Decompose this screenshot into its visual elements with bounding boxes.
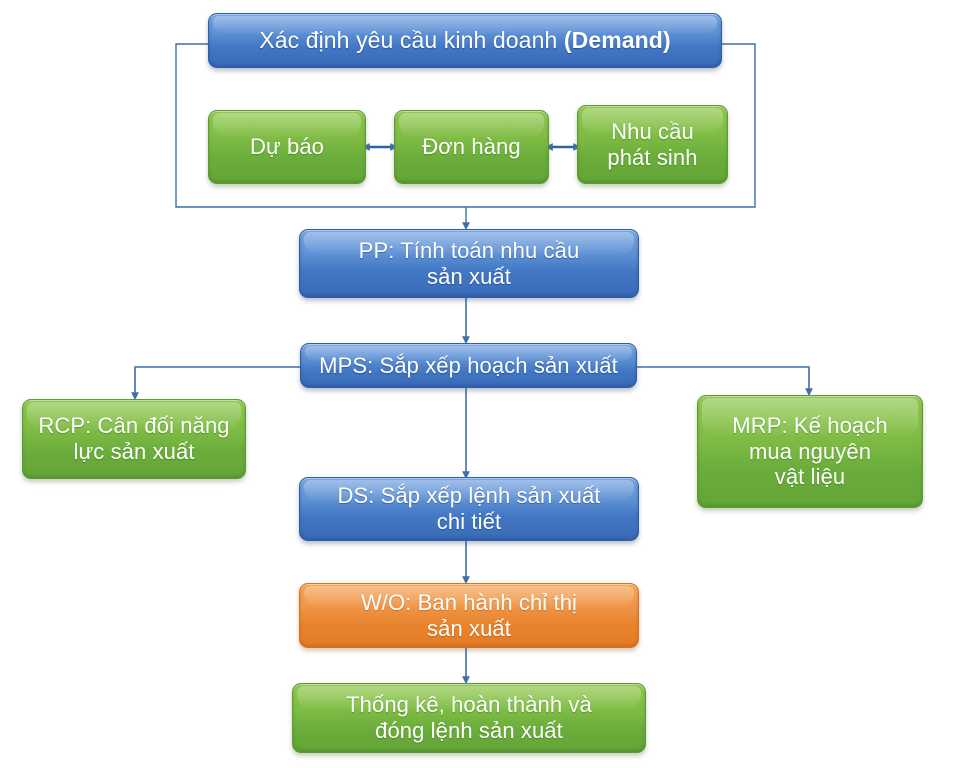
- node-rcp[interactable]: RCP: Cân đối năng lực sản xuất: [22, 399, 246, 479]
- node-forecast-label: Dự báo: [217, 134, 357, 160]
- node-mps-label: MPS: Sắp xếp hoạch sản xuất: [309, 353, 628, 379]
- node-demand-label: Xác định yêu cầu kinh doanh (Demand): [217, 27, 713, 54]
- node-forecast[interactable]: Dự báo: [208, 110, 366, 184]
- node-close-label: Thống kê, hoàn thành và đóng lệnh sản xu…: [301, 692, 637, 744]
- node-ds[interactable]: DS: Sắp xếp lệnh sản xuất chi tiết: [299, 477, 639, 541]
- node-wo-label: W/O: Ban hành chỉ thị sản xuất: [308, 590, 630, 642]
- node-mrp[interactable]: MRP: Kế hoạch mua nguyên vật liệu: [697, 395, 923, 508]
- node-mrp-label: MRP: Kế hoạch mua nguyên vật liệu: [706, 413, 914, 491]
- node-demand[interactable]: Xác định yêu cầu kinh doanh (Demand): [208, 13, 722, 68]
- node-extra-demand-label: Nhu cầu phát sinh: [586, 119, 719, 171]
- node-wo[interactable]: W/O: Ban hành chỉ thị sản xuất: [299, 583, 639, 648]
- node-pp[interactable]: PP: Tính toán nhu cầu sản xuất: [299, 229, 639, 298]
- node-order-label: Đơn hàng: [403, 134, 540, 160]
- node-rcp-label: RCP: Cân đối năng lực sản xuất: [31, 413, 237, 465]
- node-ds-label: DS: Sắp xếp lệnh sản xuất chi tiết: [308, 483, 630, 535]
- node-extra-demand[interactable]: Nhu cầu phát sinh: [577, 105, 728, 184]
- node-mps[interactable]: MPS: Sắp xếp hoạch sản xuất: [300, 343, 637, 388]
- node-order[interactable]: Đơn hàng: [394, 110, 549, 184]
- node-pp-label: PP: Tính toán nhu cầu sản xuất: [308, 238, 630, 290]
- connector-mps-mrp: [637, 367, 809, 392]
- flowchart-canvas: Xác định yêu cầu kinh doanh (Demand) Dự …: [0, 0, 960, 768]
- connector-mps-rcp: [135, 367, 300, 396]
- node-close[interactable]: Thống kê, hoàn thành và đóng lệnh sản xu…: [292, 683, 646, 753]
